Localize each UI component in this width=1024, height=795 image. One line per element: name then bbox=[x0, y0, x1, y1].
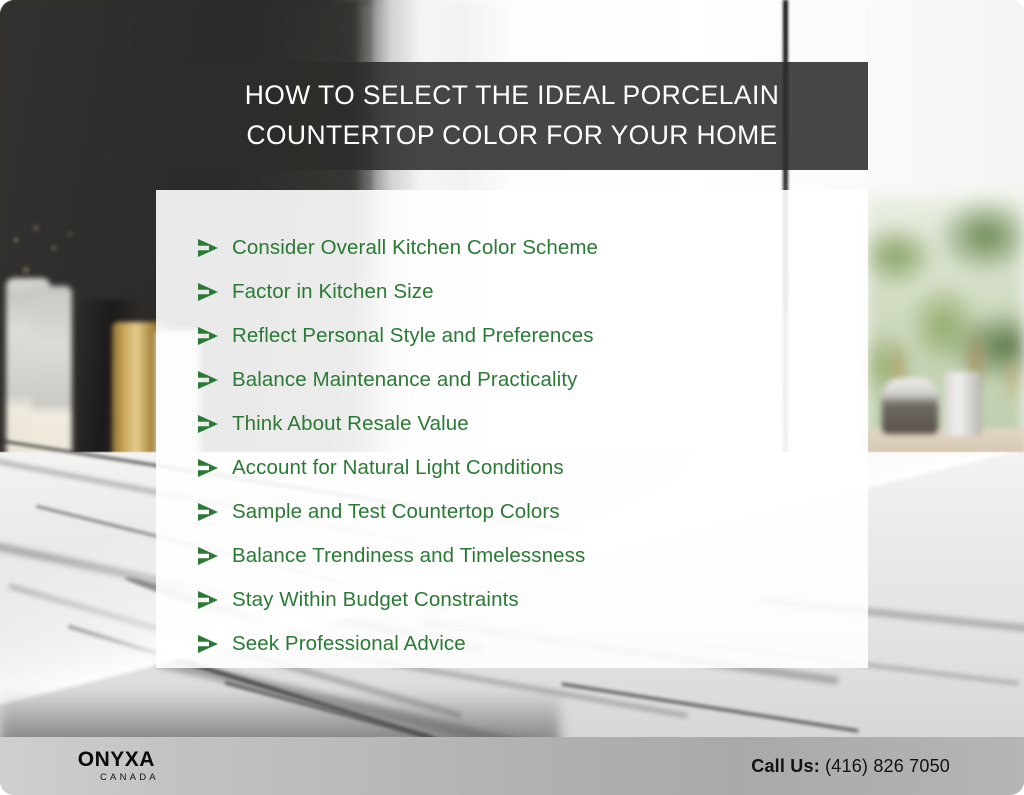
list-item-label: Balance Maintenance and Practicality bbox=[232, 368, 577, 392]
arrow-right-icon bbox=[196, 633, 222, 655]
list-item-label: Sample and Test Countertop Colors bbox=[232, 500, 560, 524]
list-item: Seek Professional Advice bbox=[196, 622, 868, 666]
logo-subtext: CANADA bbox=[100, 772, 159, 783]
list-item: Think About Resale Value bbox=[196, 402, 868, 446]
arrow-right-icon bbox=[196, 457, 222, 479]
list-item-label: Seek Professional Advice bbox=[232, 632, 466, 656]
arrow-right-icon bbox=[196, 413, 222, 435]
arrow-right-icon bbox=[196, 281, 222, 303]
list-item-label: Account for Natural Light Conditions bbox=[232, 456, 564, 480]
arrow-right-icon bbox=[196, 237, 222, 259]
list-item-label: Reflect Personal Style and Preferences bbox=[232, 324, 594, 348]
arrow-right-icon bbox=[196, 369, 222, 391]
list-item-label: Stay Within Budget Constraints bbox=[232, 588, 519, 612]
list-item: Account for Natural Light Conditions bbox=[196, 446, 868, 490]
list-item-label: Consider Overall Kitchen Color Scheme bbox=[232, 236, 598, 260]
list-item-label: Balance Trendiness and Timelessness bbox=[232, 544, 585, 568]
list-item: Reflect Personal Style and Preferences bbox=[196, 314, 868, 358]
benefits-panel: Consider Overall Kitchen Color Scheme Fa… bbox=[156, 190, 868, 668]
list-item: Balance Maintenance and Practicality bbox=[196, 358, 868, 402]
page-title: HOW TO SELECT THE IDEAL PORCELAIN COUNTE… bbox=[182, 76, 842, 156]
call-us-label: Call Us: bbox=[751, 756, 820, 776]
list-item: Stay Within Budget Constraints bbox=[196, 578, 868, 622]
logo-wordmark: ONYXA bbox=[78, 749, 155, 770]
title-band: HOW TO SELECT THE IDEAL PORCELAIN COUNTE… bbox=[156, 62, 868, 170]
list-item: Consider Overall Kitchen Color Scheme bbox=[196, 226, 868, 270]
onyxa-logo: ONYXA CANADA bbox=[74, 749, 159, 783]
footer-bar: ONYXA CANADA Call Us: (416) 826 7050 bbox=[0, 737, 1024, 795]
arrow-right-icon bbox=[196, 545, 222, 567]
arrow-right-icon bbox=[196, 501, 222, 523]
list-item: Sample and Test Countertop Colors bbox=[196, 490, 868, 534]
list-item-label: Factor in Kitchen Size bbox=[232, 280, 434, 304]
phone-number-value: (416) 826 7050 bbox=[825, 756, 950, 776]
arrow-right-icon bbox=[196, 325, 222, 347]
benefits-list: Consider Overall Kitchen Color Scheme Fa… bbox=[196, 226, 868, 666]
list-item: Balance Trendiness and Timelessness bbox=[196, 534, 868, 578]
contact-phone[interactable]: Call Us: (416) 826 7050 bbox=[751, 756, 950, 777]
list-item-label: Think About Resale Value bbox=[232, 412, 469, 436]
arrow-right-icon bbox=[196, 589, 222, 611]
infographic-card: HOW TO SELECT THE IDEAL PORCELAIN COUNTE… bbox=[0, 0, 1024, 795]
list-item: Factor in Kitchen Size bbox=[196, 270, 868, 314]
